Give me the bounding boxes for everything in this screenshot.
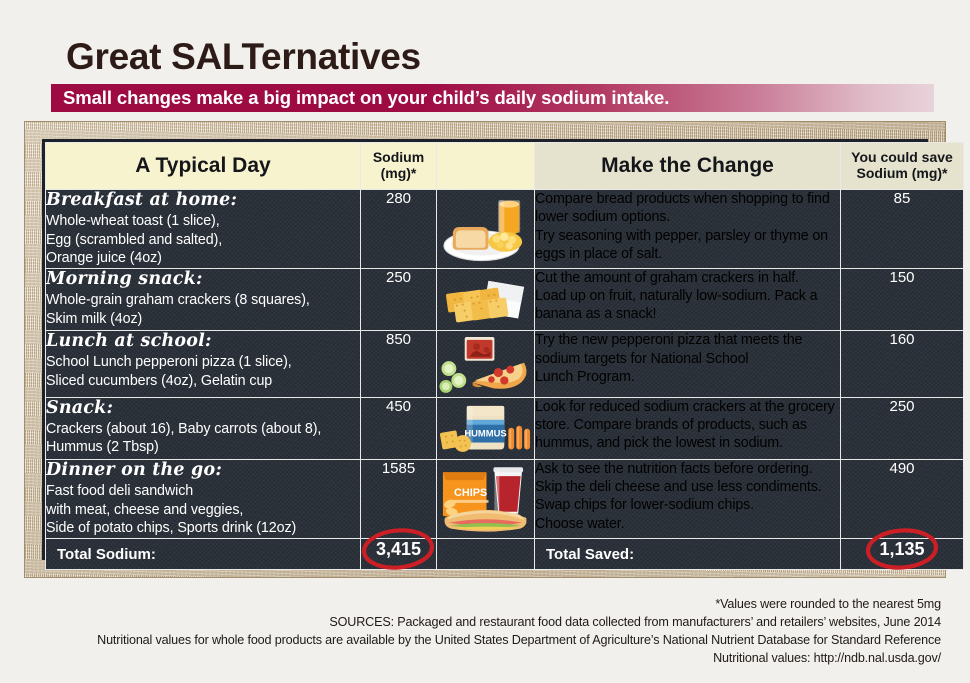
- meal-item: with meat, cheese and veggies,: [46, 501, 360, 520]
- change-line: hummus, and pick the lowest in sodium.: [535, 434, 840, 452]
- meal-cell: Snack: Crackers (about 16), Baby carrots…: [46, 397, 361, 459]
- meal-cell: Breakfast at home: Whole-wheat toast (1 …: [46, 190, 361, 269]
- change-line: Skip the deli cheese and use less condim…: [535, 478, 840, 496]
- saved-value: 150: [841, 268, 964, 330]
- meal-title: Lunch at school:: [46, 331, 360, 351]
- meal-item: Orange juice (4oz): [46, 249, 360, 268]
- sodium-value: 1585: [361, 459, 437, 538]
- hummus-jar-icon: HUMMUS: [437, 397, 535, 459]
- change-line: Compare bread products when shopping to …: [535, 190, 840, 208]
- meal-items: Fast food deli sandwich with meat, chees…: [46, 482, 360, 538]
- header-sodium: Sodium (mg)*: [361, 143, 437, 190]
- change-line: Look for reduced sodium crackers at the …: [535, 398, 840, 416]
- total-sodium-value-cell: 3,415: [361, 538, 437, 569]
- change-cell: Compare bread products when shopping to …: [535, 190, 841, 269]
- subtitle-text: Small changes make a big impact on your …: [51, 87, 669, 109]
- change-line: Choose water.: [535, 515, 840, 533]
- meal-item: School Lunch pepperoni pizza (1 slice),: [46, 353, 360, 372]
- change-line: eggs in place of salt.: [535, 245, 840, 263]
- footnote-line: Nutritional values for whole food produc…: [0, 632, 941, 650]
- sandwich-chips-icon: CHIPS: [437, 459, 535, 538]
- total-saved-value-cell: 1,135: [841, 538, 964, 569]
- meal-item: Whole-wheat toast (1 slice),: [46, 212, 360, 231]
- header-saved-line2: Sodium (mg)*: [841, 166, 963, 182]
- change-line: Try the new pepperoni pizza that meets t…: [535, 331, 840, 349]
- total-saved-label: Total Saved:: [535, 539, 840, 569]
- change-line: Cut the amount of graham crackers in hal…: [535, 269, 840, 287]
- breakfast-plate-icon: [437, 190, 535, 269]
- total-sodium-circled: 3,415: [376, 539, 421, 560]
- meal-cell: Morning snack: Whole-grain graham cracke…: [46, 268, 361, 330]
- subtitle-banner: Small changes make a big impact on your …: [51, 84, 934, 112]
- sodium-value: 280: [361, 190, 437, 269]
- table-header-row: A Typical Day Sodium (mg)* Make the Chan…: [46, 143, 964, 190]
- saved-value: 160: [841, 331, 964, 397]
- meal-items: School Lunch pepperoni pizza (1 slice), …: [46, 353, 360, 390]
- footnote-line: SOURCES: Packaged and restaurant food da…: [0, 614, 941, 632]
- table-container: A Typical Day Sodium (mg)* Make the Chan…: [42, 139, 928, 560]
- saved-value: 490: [841, 459, 964, 538]
- change-line: Lunch Program.: [535, 368, 840, 386]
- total-sodium-label: Total Sodium:: [46, 539, 360, 569]
- table-row: Lunch at school: School Lunch pepperoni …: [46, 331, 964, 397]
- meal-title: Snack:: [46, 398, 360, 418]
- footnote-line: Nutritional values: http://ndb.nal.usda.…: [0, 650, 941, 668]
- change-line: banana as a snack!: [535, 305, 840, 323]
- header-image-column: [437, 143, 535, 190]
- footnote-line: *Values were rounded to the nearest 5mg: [0, 596, 941, 614]
- change-line: Load up on fruit, naturally low-sodium. …: [535, 287, 840, 305]
- total-saved-circled: 1,135: [879, 539, 924, 560]
- meal-title: Morning snack:: [46, 269, 360, 289]
- wooden-frame: A Typical Day Sodium (mg)* Make the Chan…: [25, 122, 945, 577]
- header-sodium-line1: Sodium: [361, 150, 436, 166]
- change-cell: Look for reduced sodium crackers at the …: [535, 397, 841, 459]
- footnotes: *Values were rounded to the nearest 5mg …: [0, 596, 941, 668]
- total-sodium-label-cell: Total Sodium:: [46, 538, 361, 569]
- totals-row: Total Sodium: 3,415 Total Saved:: [46, 538, 964, 569]
- sodium-value: 450: [361, 397, 437, 459]
- meal-title: Dinner on the go:: [46, 460, 360, 480]
- header-sodium-line2: (mg)*: [361, 166, 436, 182]
- pizza-slice-icon: [437, 331, 535, 397]
- table-row: Snack: Crackers (about 16), Baby carrots…: [46, 397, 964, 459]
- header-make-the-change: Make the Change: [535, 143, 841, 190]
- sodium-value: 250: [361, 268, 437, 330]
- table-row: Breakfast at home: Whole-wheat toast (1 …: [46, 190, 964, 269]
- meal-item: Sliced cucumbers (4oz), Gelatin cup: [46, 372, 360, 391]
- meal-cell: Dinner on the go: Fast food deli sandwic…: [46, 459, 361, 538]
- meal-title: Breakfast at home:: [46, 190, 360, 210]
- table-row: Dinner on the go: Fast food deli sandwic…: [46, 459, 964, 538]
- meal-items: Whole-wheat toast (1 slice), Egg (scramb…: [46, 212, 360, 268]
- change-line: Ask to see the nutrition facts before or…: [535, 460, 840, 478]
- meal-item: Skim milk (4oz): [46, 310, 360, 329]
- change-cell: Try the new pepperoni pizza that meets t…: [535, 331, 841, 397]
- total-saved-value: 1,135: [879, 539, 924, 559]
- graham-crackers-icon: [437, 268, 535, 330]
- sodium-value: 850: [361, 331, 437, 397]
- change-cell: Cut the amount of graham crackers in hal…: [535, 268, 841, 330]
- total-sodium-value: 3,415: [376, 539, 421, 559]
- header-you-could-save: You could save Sodium (mg)*: [841, 143, 964, 190]
- change-line: Swap chips for lower-sodium chips.: [535, 496, 840, 514]
- meal-item: Hummus (2 Tbsp): [46, 438, 360, 457]
- change-line: Try seasoning with pepper, parsley or th…: [535, 227, 840, 245]
- meal-item: Egg (scrambled and salted),: [46, 231, 360, 250]
- saved-value: 85: [841, 190, 964, 269]
- change-cell: Ask to see the nutrition facts before or…: [535, 459, 841, 538]
- saved-value: 250: [841, 397, 964, 459]
- salternatives-table: A Typical Day Sodium (mg)* Make the Chan…: [45, 142, 964, 570]
- change-line: store. Compare brands of products, such …: [535, 416, 840, 434]
- meal-items: Whole-grain graham crackers (8 squares),…: [46, 291, 360, 328]
- table-row: Morning snack: Whole-grain graham cracke…: [46, 268, 964, 330]
- chips-bag-label: CHIPS: [454, 487, 487, 499]
- meal-items: Crackers (about 16), Baby carrots (about…: [46, 420, 360, 457]
- total-spacer-cell: [437, 538, 535, 569]
- meal-item: Side of potato chips, Sports drink (12oz…: [46, 519, 360, 538]
- meal-cell: Lunch at school: School Lunch pepperoni …: [46, 331, 361, 397]
- meal-item: Fast food deli sandwich: [46, 482, 360, 501]
- meal-item: Crackers (about 16), Baby carrots (about…: [46, 420, 360, 439]
- meal-item: Whole-grain graham crackers (8 squares),: [46, 291, 360, 310]
- change-line: sodium targets for National School: [535, 350, 840, 368]
- header-saved-line1: You could save: [841, 150, 963, 166]
- page-title: Great SALTernatives: [66, 38, 421, 75]
- total-saved-label-cell: Total Saved:: [535, 538, 841, 569]
- header-typical-day: A Typical Day: [46, 143, 361, 190]
- change-line: lower sodium options.: [535, 208, 840, 226]
